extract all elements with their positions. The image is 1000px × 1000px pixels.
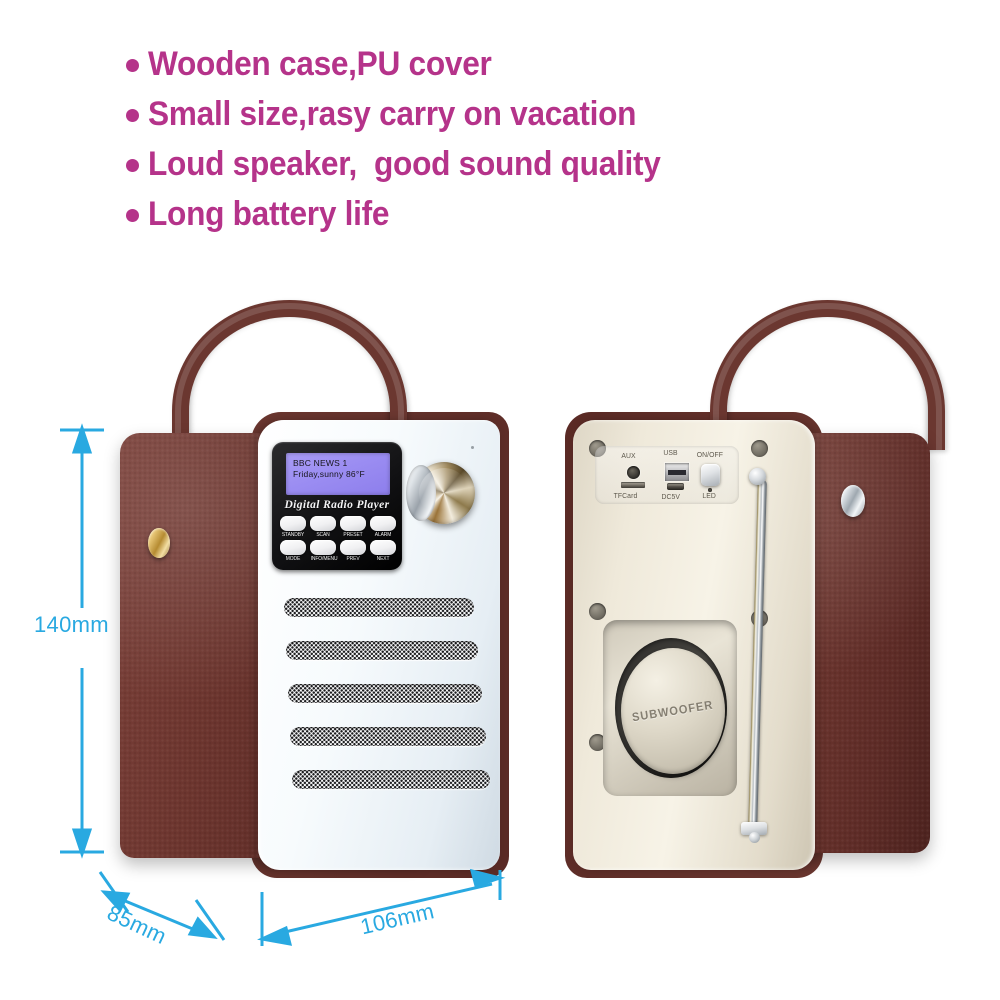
feature-text: Long battery life	[148, 192, 389, 236]
speaker-grille-slot	[284, 598, 474, 617]
button-key[interactable]	[310, 516, 336, 531]
port-cluster: AUX USB ON/OFF TFCard DC5V LED	[595, 446, 739, 504]
feature-list: Wooden case,PU cover Small size,rasy car…	[126, 42, 986, 242]
feature-item: Long battery life	[126, 192, 986, 236]
button-label: ALARM	[371, 532, 396, 538]
bullet-icon	[126, 159, 139, 172]
button-preset[interactable]: PRESET	[340, 516, 366, 538]
subwoofer-label: SUBWOOFER	[631, 698, 714, 725]
button-label: PREV	[341, 556, 366, 562]
aux-jack-port[interactable]	[627, 466, 640, 479]
button-scan[interactable]: SCAN	[310, 516, 336, 538]
button-key[interactable]	[280, 540, 306, 555]
port-label-onoff: ON/OFF	[697, 450, 723, 459]
button-standby[interactable]: STANDBY	[280, 516, 306, 538]
button-row-bottom: MODE INFO/MENU PREV NEXT	[280, 540, 396, 562]
feature-item: Wooden case,PU cover	[126, 42, 986, 86]
button-label: SCAN	[311, 532, 336, 538]
front-control-face: BBC NEWS 1 Friday,sunny 86°F Digital Rad…	[258, 420, 500, 870]
brand-label: Digital Radio Player	[272, 499, 402, 511]
back-panel: AUX USB ON/OFF TFCard DC5V LED SUBWOOFER	[573, 420, 815, 870]
power-switch[interactable]	[701, 464, 720, 486]
button-key[interactable]	[310, 540, 336, 555]
subwoofer-cone: SUBWOOFER	[621, 648, 725, 774]
lcd-line-station: BBC NEWS 1	[293, 458, 390, 469]
button-key[interactable]	[370, 516, 396, 531]
button-label: INFO/MENU	[311, 556, 336, 562]
led-indicator-icon	[708, 488, 712, 492]
button-label: MODE	[281, 556, 306, 562]
ir-sensor-icon	[471, 446, 474, 449]
speaker-grille-slot	[292, 770, 490, 789]
button-key[interactable]	[340, 540, 366, 555]
screw-hole-icon	[751, 440, 768, 457]
radio-back-view: AUX USB ON/OFF TFCard DC5V LED SUBWOOFER	[545, 300, 945, 880]
dimension-width-label: 106mm	[358, 898, 437, 940]
button-label: PRESET	[341, 532, 366, 538]
dimension-depth-label: 85mm	[103, 900, 170, 950]
speaker-grille-slot	[288, 684, 482, 703]
radio-front-view: BBC NEWS 1 Friday,sunny 86°F Digital Rad…	[110, 300, 510, 880]
button-info-menu[interactable]: INFO/MENU	[310, 540, 336, 562]
subwoofer-surround: SUBWOOFER	[615, 638, 727, 778]
feature-item: Loud speaker, good sound quality	[126, 142, 986, 186]
dimension-height-label: 140mm	[34, 612, 109, 638]
port-label-usb: USB	[663, 448, 677, 457]
handle-stud-icon	[148, 528, 170, 558]
volume-tuning-knob[interactable]	[413, 462, 475, 524]
speaker-grille-slot	[290, 727, 486, 746]
button-key[interactable]	[280, 516, 306, 531]
speaker-grille-slot	[286, 641, 478, 660]
feature-text: Wooden case,PU cover	[148, 42, 492, 86]
bullet-icon	[126, 59, 139, 72]
bullet-icon	[126, 209, 139, 222]
tfcard-slot[interactable]	[621, 482, 645, 488]
lcd-line-weather: Friday,sunny 86°F	[293, 469, 390, 480]
port-label-led: LED	[702, 491, 716, 500]
lcd-display: BBC NEWS 1 Friday,sunny 86°F	[286, 453, 390, 495]
button-label: STANDBY	[281, 532, 306, 538]
button-row-top: STANDBY SCAN PRESET ALARM	[280, 516, 396, 538]
port-label-dc5v: DC5V	[661, 492, 680, 501]
port-label-tfcard: TFCard	[614, 491, 638, 500]
feature-text: Loud speaker, good sound quality	[148, 142, 661, 186]
product-image-canvas: Wooden case,PU cover Small size,rasy car…	[0, 0, 1000, 1000]
port-label-aux: AUX	[621, 451, 635, 460]
button-alarm[interactable]: ALARM	[370, 516, 396, 538]
feature-item: Small size,rasy carry on vacation	[126, 92, 986, 136]
button-mode[interactable]: MODE	[280, 540, 306, 562]
telescopic-antenna[interactable]	[748, 480, 767, 832]
screw-hole-icon	[589, 603, 606, 620]
button-key[interactable]	[340, 516, 366, 531]
button-label: NEXT	[371, 556, 396, 562]
bullet-icon	[126, 109, 139, 122]
dc5v-port[interactable]	[667, 483, 684, 490]
button-key[interactable]	[370, 540, 396, 555]
button-grid: STANDBY SCAN PRESET ALARM	[280, 516, 396, 564]
button-next[interactable]: NEXT	[370, 540, 396, 562]
subwoofer-cutout: SUBWOOFER	[603, 620, 737, 796]
button-prev[interactable]: PREV	[340, 540, 366, 562]
handle-stud-icon	[841, 485, 865, 517]
feature-text: Small size,rasy carry on vacation	[148, 92, 636, 136]
usb-port[interactable]	[665, 463, 689, 481]
control-faceplate: BBC NEWS 1 Friday,sunny 86°F Digital Rad…	[272, 442, 402, 570]
antenna-pivot-icon	[749, 832, 760, 843]
